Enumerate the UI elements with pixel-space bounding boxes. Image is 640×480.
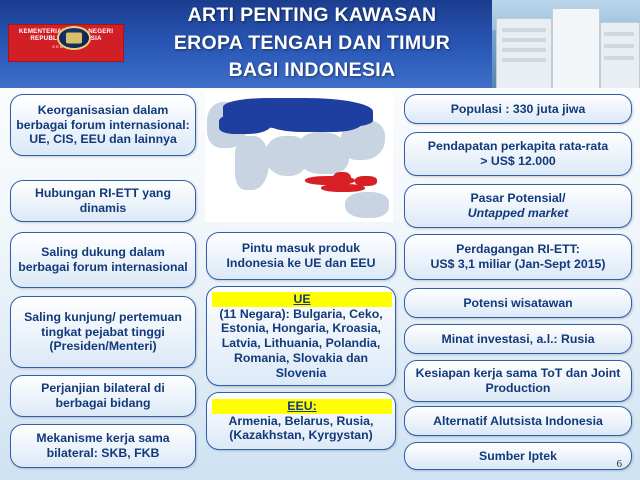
box-potensi-wisatawan[interactable]: Potensi wisatawan bbox=[404, 288, 632, 318]
map-highlight-siberia bbox=[265, 106, 361, 132]
box-saling-kunjung-label: Saling kunjung/ pertemuan tingkat pejaba… bbox=[16, 310, 190, 354]
box-populasi-label: Populasi : 330 juta jiwa bbox=[410, 102, 626, 117]
box-ue-label: UE bbox=[212, 292, 392, 307]
title-line-2: EROPA TENGAH DAN TIMUR bbox=[128, 30, 496, 58]
map-land-africa bbox=[235, 136, 269, 190]
box-perjanjian-bilateral[interactable]: Perjanjian bilateral di berbagai bidang bbox=[10, 375, 196, 417]
box-mekanisme-kerja-sama[interactable]: Mekanisme kerja sama bilateral: SKB, FKB bbox=[10, 424, 196, 468]
box-pendapatan-perkapita[interactable]: Pendapatan perkapita rata-rata > US$ 12.… bbox=[404, 132, 632, 176]
window-row-7 bbox=[604, 56, 634, 60]
box-perdagangan-line-2: US$ 3,1 miliar (Jan-Sept 2015) bbox=[410, 257, 626, 272]
box-eeu-body: Armenia, Belarus, Rusia, (Kazakhstan, Ky… bbox=[212, 414, 390, 444]
box-keorganisasian-label: Keorganisasian dalam berbagai forum inte… bbox=[16, 103, 190, 147]
building-center bbox=[552, 8, 600, 88]
box-pendapatan-content: Pendapatan perkapita rata-rata > US$ 12.… bbox=[410, 139, 626, 169]
kemlu-logo: KEMENTERIAN LUAR NEGERI REPUBLIK INDONES… bbox=[8, 24, 124, 62]
box-pintu-masuk-label: Pintu masuk produk Indonesia ke UE dan E… bbox=[212, 241, 390, 271]
box-pintu-masuk[interactable]: Pintu masuk produk Indonesia ke UE dan E… bbox=[206, 232, 396, 280]
box-alutsista[interactable]: Alternatif Alutsista Indonesia bbox=[404, 406, 632, 436]
box-ue[interactable]: UE (11 Negara): Bulgaria, Ceko, Estonia,… bbox=[206, 286, 396, 386]
box-sumber-iptek-label: Sumber Iptek bbox=[410, 449, 626, 464]
title-line-3: BAGI INDONESIA bbox=[128, 57, 496, 85]
box-saling-kunjung[interactable]: Saling kunjung/ pertemuan tingkat pejaba… bbox=[10, 296, 196, 368]
window-row-5 bbox=[604, 32, 634, 36]
garuda-crest-icon bbox=[57, 26, 91, 50]
box-eeu-content: EEU: Armenia, Belarus, Rusia, (Kazakhsta… bbox=[212, 399, 390, 443]
map-land-australia bbox=[345, 192, 389, 218]
box-kesiapan-kerja-sama[interactable]: Kesiapan kerja sama ToT dan Joint Produc… bbox=[404, 360, 632, 402]
box-minat-investasi-label: Minat investasi, a.l.: Rusia bbox=[410, 332, 626, 347]
europe-indonesia-map bbox=[205, 92, 393, 222]
box-perjanjian-bilateral-label: Perjanjian bilateral di berbagai bidang bbox=[16, 381, 190, 411]
box-pasar-line-1: Pasar Potensial/ bbox=[410, 191, 626, 206]
box-potensi-wisatawan-label: Potensi wisatawan bbox=[410, 296, 626, 311]
box-perdagangan-line-1: Perdagangan RI-ETT: bbox=[410, 242, 626, 257]
map-highlight-papua bbox=[355, 176, 377, 186]
box-pasar-content: Pasar Potensial/ Untapped market bbox=[410, 191, 626, 221]
box-pendapatan-line-2: > US$ 12.000 bbox=[410, 154, 626, 169]
box-perdagangan-content: Perdagangan RI-ETT: US$ 3,1 miliar (Jan-… bbox=[410, 242, 626, 272]
box-keorganisasian[interactable]: Keorganisasian dalam berbagai forum inte… bbox=[10, 94, 196, 156]
window-row-3 bbox=[502, 48, 546, 52]
box-eeu-label: EEU: bbox=[212, 399, 392, 414]
box-hubungan-ri-ett-label: Hubungan RI-ETT yang dinamis bbox=[16, 186, 190, 216]
title-line-1: ARTI PENTING KAWASAN bbox=[128, 2, 496, 30]
window-row-4 bbox=[502, 58, 546, 62]
box-ue-content: UE (11 Negara): Bulgaria, Ceko, Estonia,… bbox=[212, 292, 390, 381]
box-hubungan-ri-ett[interactable]: Hubungan RI-ETT yang dinamis bbox=[10, 180, 196, 222]
box-saling-dukung[interactable]: Saling dukung dalam berbagai forum inter… bbox=[10, 232, 196, 288]
window-row-6 bbox=[604, 44, 634, 48]
box-pasar-line-2: Untapped market bbox=[410, 206, 626, 221]
box-mekanisme-kerja-sama-label: Mekanisme kerja sama bilateral: SKB, FKB bbox=[16, 431, 190, 461]
box-eeu[interactable]: EEU: Armenia, Belarus, Rusia, (Kazakhsta… bbox=[206, 392, 396, 450]
box-sumber-iptek[interactable]: Sumber Iptek bbox=[404, 442, 632, 470]
box-ue-body: (11 Negara): Bulgaria, Ceko, Estonia, Ho… bbox=[212, 307, 390, 381]
page-title: ARTI PENTING KAWASAN EROPA TENGAH DAN TI… bbox=[128, 2, 496, 85]
window-row-2 bbox=[502, 38, 546, 42]
window-row-1 bbox=[502, 28, 546, 32]
box-saling-dukung-label: Saling dukung dalam berbagai forum inter… bbox=[16, 245, 190, 275]
page-number: 6 bbox=[617, 458, 623, 470]
box-perdagangan[interactable]: Perdagangan RI-ETT: US$ 3,1 miliar (Jan-… bbox=[404, 234, 632, 280]
box-alutsista-label: Alternatif Alutsista Indonesia bbox=[410, 414, 626, 429]
box-pendapatan-line-1: Pendapatan perkapita rata-rata bbox=[410, 139, 626, 154]
map-highlight-cee bbox=[219, 114, 271, 134]
slide-canvas: KEMENTERIAN LUAR NEGERI REPUBLIK INDONES… bbox=[0, 0, 640, 480]
ministry-building-photo bbox=[492, 0, 640, 88]
box-pasar-potensial[interactable]: Pasar Potensial/ Untapped market bbox=[404, 184, 632, 228]
box-minat-investasi[interactable]: Minat investasi, a.l.: Rusia bbox=[404, 324, 632, 354]
map-highlight-kalimantan bbox=[333, 172, 351, 186]
box-kesiapan-kerja-sama-label: Kesiapan kerja sama ToT dan Joint Produc… bbox=[410, 366, 626, 396]
box-populasi[interactable]: Populasi : 330 juta jiwa bbox=[404, 94, 632, 124]
